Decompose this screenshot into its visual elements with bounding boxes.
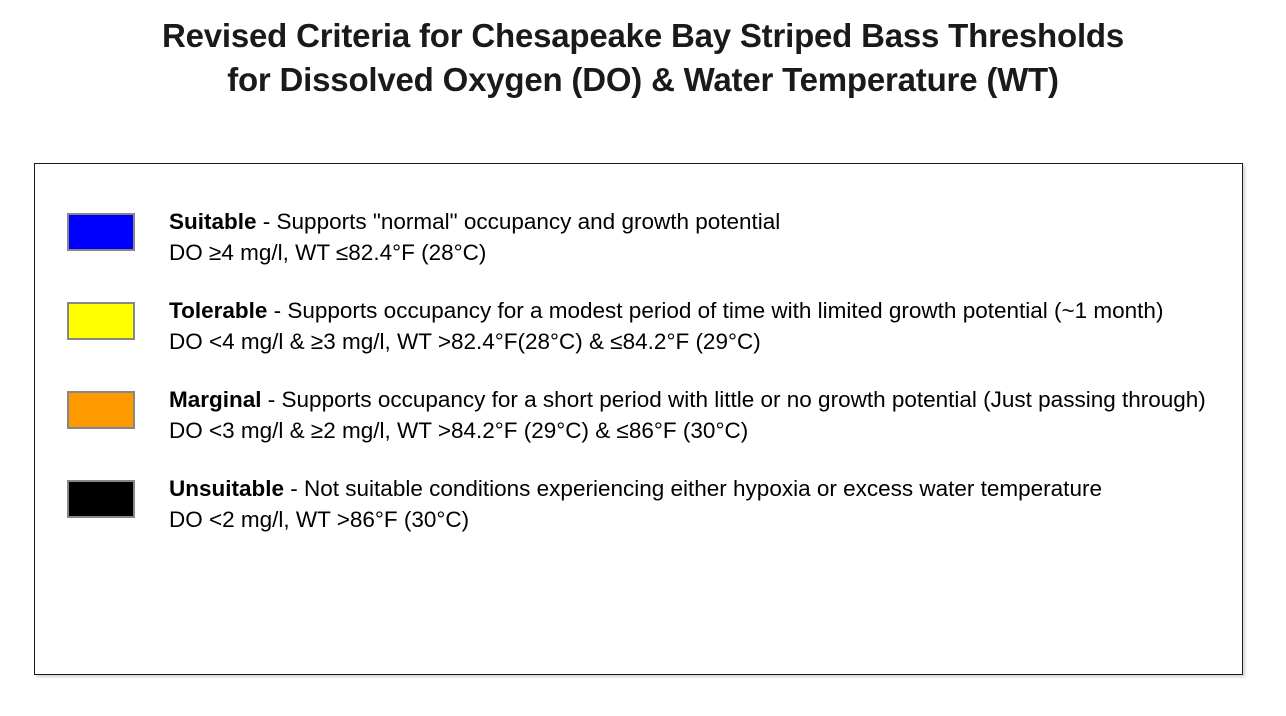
legend-heading: Suitable - Supports "normal" occupancy a…: [169, 206, 1222, 237]
legend-separator: -: [257, 209, 277, 234]
legend-detail-tolerable: DO <4 mg/l & ≥3 mg/l, WT >82.4°F(28°C) &…: [169, 326, 1222, 357]
legend-swatch-cell: [35, 384, 169, 429]
legend-detail-marginal: DO <3 mg/l & ≥2 mg/l, WT >84.2°F (29°C) …: [169, 415, 1222, 446]
color-swatch-suitable: [67, 213, 135, 251]
legend-text-suitable: Suitable - Supports "normal" occupancy a…: [169, 206, 1242, 268]
legend-separator: -: [267, 298, 287, 323]
legend-description-tolerable: Supports occupancy for a modest period o…: [287, 298, 1163, 323]
legend-separator: -: [262, 387, 282, 412]
legend-item-unsuitable: Unsuitable - Not suitable conditions exp…: [35, 473, 1242, 535]
page-title-line-2: for Dissolved Oxygen (DO) & Water Temper…: [0, 58, 1286, 102]
legend-separator: -: [284, 476, 304, 501]
legend-text-tolerable: Tolerable - Supports occupancy for a mod…: [169, 295, 1242, 357]
legend-item-tolerable: Tolerable - Supports occupancy for a mod…: [35, 295, 1242, 357]
legend-description-marginal: Supports occupancy for a short period wi…: [282, 387, 1206, 412]
legend-heading: Unsuitable - Not suitable conditions exp…: [169, 473, 1222, 504]
color-swatch-marginal: [67, 391, 135, 429]
legend-detail-suitable: DO ≥4 mg/l, WT ≤82.4°F (28°C): [169, 237, 1222, 268]
legend-item-suitable: Suitable - Supports "normal" occupancy a…: [35, 206, 1242, 268]
legend-swatch-cell: [35, 206, 169, 251]
legend-swatch-cell: [35, 473, 169, 518]
legend-description-unsuitable: Not suitable conditions experiencing eit…: [304, 476, 1102, 501]
color-swatch-unsuitable: [67, 480, 135, 518]
legend-label-suitable: Suitable: [169, 209, 257, 234]
legend-label-tolerable: Tolerable: [169, 298, 267, 323]
legend-label-unsuitable: Unsuitable: [169, 476, 284, 501]
legend-swatch-cell: [35, 295, 169, 340]
legend-text-unsuitable: Unsuitable - Not suitable conditions exp…: [169, 473, 1242, 535]
legend-heading: Tolerable - Supports occupancy for a mod…: [169, 295, 1222, 326]
legend-label-marginal: Marginal: [169, 387, 262, 412]
color-swatch-tolerable: [67, 302, 135, 340]
page-title: Revised Criteria for Chesapeake Bay Stri…: [0, 14, 1286, 102]
legend-list: Suitable - Supports "normal" occupancy a…: [35, 164, 1242, 535]
legend-item-marginal: Marginal - Supports occupancy for a shor…: [35, 384, 1242, 446]
legend-panel: Suitable - Supports "normal" occupancy a…: [34, 163, 1243, 675]
legend-text-marginal: Marginal - Supports occupancy for a shor…: [169, 384, 1242, 446]
legend-heading: Marginal - Supports occupancy for a shor…: [169, 384, 1222, 415]
page-title-line-1: Revised Criteria for Chesapeake Bay Stri…: [0, 14, 1286, 58]
legend-description-suitable: Supports "normal" occupancy and growth p…: [277, 209, 781, 234]
legend-detail-unsuitable: DO <2 mg/l, WT >86°F (30°C): [169, 504, 1222, 535]
